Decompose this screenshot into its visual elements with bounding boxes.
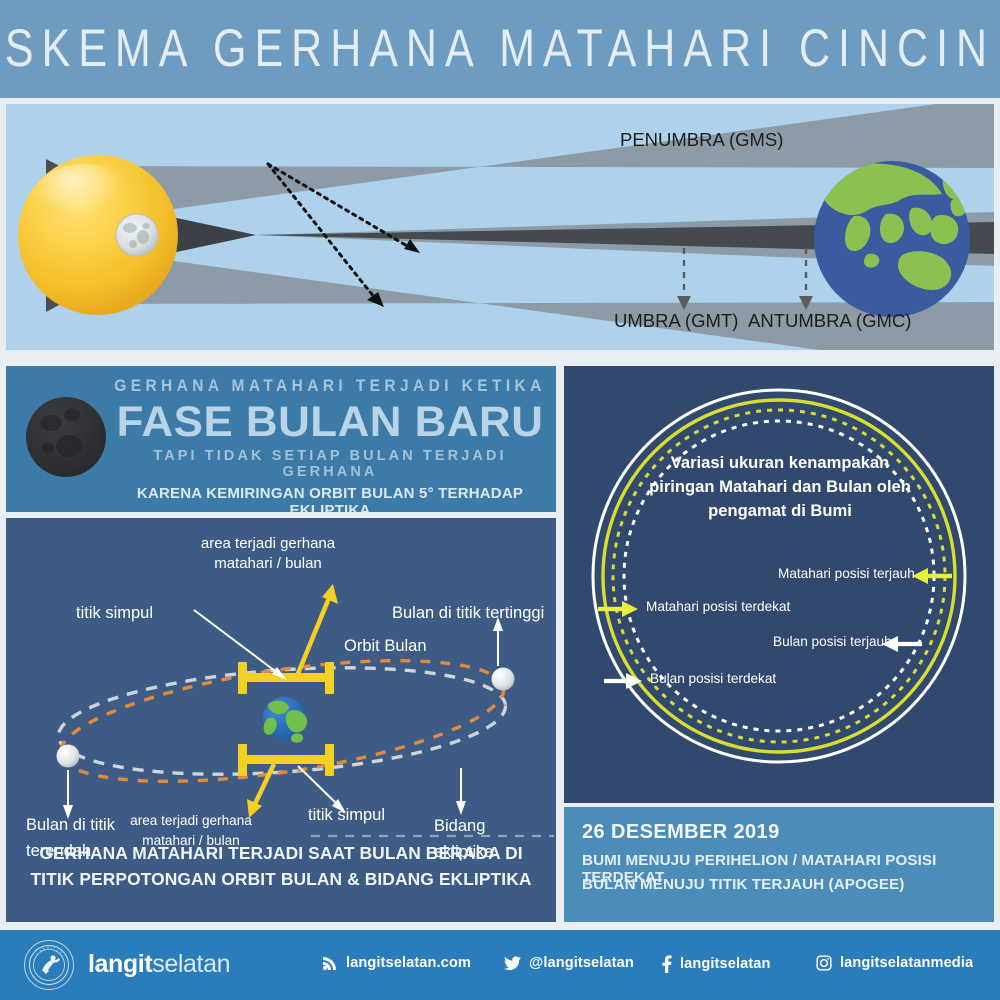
panel-seam-horizontal-right [564,803,994,807]
brand-wordmark[interactable]: langitselatan [88,950,230,979]
brand-bold: langit [88,950,152,978]
brand-thin: selatan [152,950,230,978]
moon-farthest-label: Bulan posisi terjauh [773,634,892,649]
svg-text:N: N [42,946,45,950]
link-website[interactable]: langitselatan.com [322,955,471,971]
phase-line-1: GERHANA MATAHARI TERJADI KETIKA [106,378,554,397]
orbit-caption-line-2: TITIK PERPOTONGAN ORBIT BULAN & BIDANG E… [6,866,556,892]
eclipse-area-top-label-line2: matahari / bulan [214,555,322,572]
footer-bar: L A N G I T S E L langitselatan [0,930,1000,1000]
moon-highest-marker [492,668,515,691]
moon-orbit-label: Orbit Bulan [344,637,427,655]
moon-nearest-label: Bulan posisi terdekat [650,671,776,686]
node-marker-top [238,662,334,694]
moon-high-arrow [493,617,503,666]
panel-seam-right-edge [994,104,1000,350]
penumbra-label: PENUMBRA (GMS) [620,129,783,150]
facebook-label: langitselatan [680,956,771,972]
new-moon-icon [26,397,106,477]
date-info-panel: 26 DESEMBER 2019 BUMI MENUJU PERIHELION … [564,807,994,922]
eclipse-date: 26 DESEMBER 2019 [582,821,780,844]
earth-globe [814,161,972,317]
concentric-rings-svg [564,366,994,803]
moon-lowest-label-line1: Bulan di titik [26,816,116,834]
eclipse-geometry-diagram: PENUMBRA (GMS) UMBRA (GMT) ANTUMBRA (GMC… [6,104,994,350]
link-twitter[interactable]: @langitselatan [504,955,634,971]
date-note-line-2: BULAN MENUJU TITIK TERJAUH (APOGEE) [582,876,904,893]
panel-seam-vertical [556,366,564,922]
moon-sphere [116,214,158,256]
antumbra-label: ANTUMBRA (GMC) [748,310,911,331]
earth-icon [263,697,307,743]
page-title: SKEMA GERHANA MATAHARI CINCIN [5,19,995,79]
umbra-label: UMBRA (GMT) [614,310,738,331]
orbit-nodes-panel: area terjadi gerhana matahari / bulan ti… [6,518,556,922]
node-bottom-label: titik simpul [308,806,385,824]
twitter-label: @langitselatan [529,955,634,971]
instagram-label: langitselatanmedia [840,955,973,971]
moon-low-arrow [63,770,73,819]
ecliptic-label-line1: Bidang [434,817,485,835]
logo-seal-svg: L A N G I T S E L [28,944,70,986]
svg-text:T: T [53,946,56,950]
orbit-caption-line-1: GERHANA MATAHARI TERJADI SAAT BULAN BERA… [6,840,556,866]
panel-seam-diagram [0,350,1000,366]
header-bar: SKEMA GERHANA MATAHARI CINCIN [0,0,1000,98]
node-top-label: titik simpul [76,604,153,622]
apparent-size-title: Variasi ukuran kenampakan piringan Matah… [624,451,936,523]
moon-lowest-marker [57,745,80,768]
phase-line-4: KARENA KEMIRINGAN ORBIT BULAN 5° TERHADA… [106,485,554,512]
apparent-size-panel: Variasi ukuran kenampakan piringan Matah… [564,366,994,803]
panel-seam-left-edge-2 [0,366,6,922]
sun-farthest-label: Matahari posisi terjauh [778,566,915,581]
ecliptic-label-arrow [456,768,466,815]
panel-seam-right-edge-2 [994,366,1000,922]
panel-seam-left-edge [0,104,6,350]
langitselatan-logo-icon[interactable]: L A N G I T S E L [24,940,74,990]
new-moon-phase-panel: GERHANA MATAHARI TERJADI KETIKA FASE BUL… [6,366,556,512]
panel-seam-footer [0,922,1000,930]
link-facebook[interactable]: langitselatan [661,955,771,973]
eclipse-diagram-svg: PENUMBRA (GMS) UMBRA (GMT) ANTUMBRA (GMC… [6,104,994,350]
link-instagram[interactable]: langitselatanmedia [816,955,973,971]
phase-line-3: TAPI TIDAK SETIAP BULAN TERJADI GERHANA [106,448,554,480]
moon-highest-label: Bulan di titik tertinggi [392,604,544,622]
facebook-icon [661,955,672,973]
website-label: langitselatan.com [346,955,471,971]
infographic-root: SKEMA GERHANA MATAHARI CINCIN [0,0,1000,1000]
orbit-caption: GERHANA MATAHARI TERJADI SAAT BULAN BERA… [6,840,556,892]
instagram-icon [816,955,832,971]
apparent-size-title-line-3: pengamat di Bumi [624,499,936,523]
apparent-size-title-line-1: Variasi ukuran kenampakan [624,451,936,475]
phase-headline: FASE BULAN BARU [102,398,556,446]
apparent-size-title-line-2: piringan Matahari dan Bulan oleh [624,475,936,499]
eclipse-area-top-label-line1: area terjadi gerhana [201,535,336,552]
sun-nearest-label: Matahari posisi terdekat [646,599,790,614]
twitter-icon [504,956,521,971]
eclipse-area-bottom-label-line1: area terjadi gerhana [130,813,252,828]
phase-text-block: GERHANA MATAHARI TERJADI KETIKA FASE BUL… [106,378,554,512]
rss-icon [322,955,338,971]
panel-seam-header [0,98,1000,104]
panel-seam-horizontal-left [6,512,556,518]
